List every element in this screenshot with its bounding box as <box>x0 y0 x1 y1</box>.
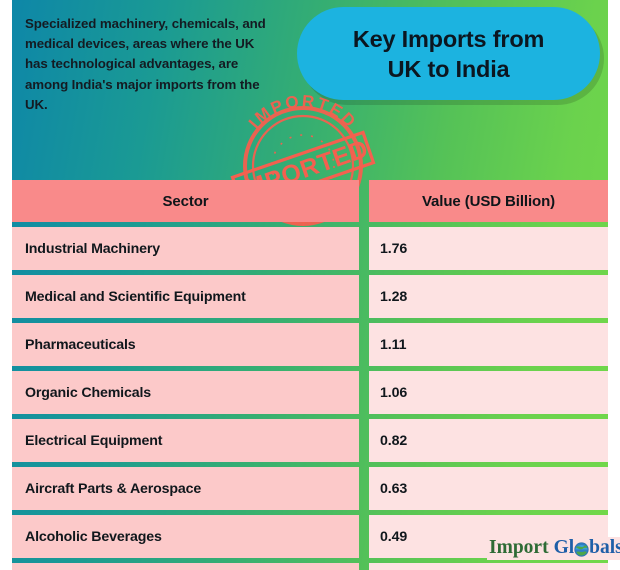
value-label: 1.28 <box>380 289 407 305</box>
cell-sector: Electrical Equipment <box>12 419 359 462</box>
header-cell-value: Value (USD Billion) <box>369 180 608 222</box>
sector-label: Electrical Equipment <box>25 433 162 449</box>
cell-value: 0.63 <box>369 467 608 510</box>
sector-label: Medical and Scientific Equipment <box>25 289 246 305</box>
brand-logo: Import Gl bals <box>487 537 620 560</box>
table-row: Organic Chemicals 1.06 <box>12 371 608 414</box>
sector-label: Organic Chemicals <box>25 385 151 401</box>
title-text-block: Key Imports from UK to India <box>353 24 544 84</box>
cell-value: 1.76 <box>369 227 608 270</box>
cell-sector: Organic Chemicals <box>12 371 359 414</box>
header-label-value: Value (USD Billion) <box>422 193 555 210</box>
title-badge: Key Imports from UK to India <box>297 7 600 100</box>
imports-table: Sector Value (USD Billion) Industrial Ma… <box>12 180 608 570</box>
table-row: Industrial Machinery 1.76 <box>12 227 608 270</box>
logo-text-bals: bals <box>589 538 620 558</box>
sector-label: Pharmaceuticals <box>25 337 136 353</box>
table-row: Electrical Equipment 0.82 <box>12 419 608 462</box>
cell-value: 0.34 <box>369 563 608 570</box>
value-label: 1.06 <box>380 385 407 401</box>
cell-sector: Medical and Scientific Equipment <box>12 275 359 318</box>
logo-text-gl: Gl <box>554 538 575 558</box>
cell-sector: Alcoholic Beverages <box>12 515 359 558</box>
infographic-page: Specialized machinery, chemicals, and me… <box>0 0 620 570</box>
cell-sector: Aircraft Parts & Aerospace <box>12 467 359 510</box>
value-label: 1.76 <box>380 241 407 257</box>
cell-sector: Pharmaceuticals <box>12 323 359 366</box>
value-label: 1.11 <box>380 337 406 353</box>
table-row: Pharmaceuticals 1.11 <box>12 323 608 366</box>
logo-text-import: Import <box>489 538 549 558</box>
sector-label: Industrial Machinery <box>25 241 160 257</box>
globe-icon <box>574 542 589 557</box>
title-line-2: UK to India <box>388 56 510 82</box>
table-row: Medical and Scientific Equipment 1.28 <box>12 275 608 318</box>
table-header-row: Sector Value (USD Billion) <box>12 180 608 222</box>
intro-paragraph: Specialized machinery, chemicals, and me… <box>25 14 270 115</box>
value-label: 0.82 <box>380 433 407 449</box>
cell-value: 0.82 <box>369 419 608 462</box>
cell-value: 1.06 <box>369 371 608 414</box>
cell-sector: Industrial Machinery <box>12 227 359 270</box>
value-label: 0.63 <box>380 481 407 497</box>
cell-value: 1.28 <box>369 275 608 318</box>
table-row: Optical Instruments 0.34 <box>12 563 608 570</box>
header-label-sector: Sector <box>162 193 208 210</box>
table-row: Aircraft Parts & Aerospace 0.63 <box>12 467 608 510</box>
value-label: 0.49 <box>380 529 407 545</box>
header-cell-sector: Sector <box>12 180 359 222</box>
sector-label: Alcoholic Beverages <box>25 529 162 545</box>
sector-label: Aircraft Parts & Aerospace <box>25 481 201 497</box>
title-line-1: Key Imports from <box>353 26 544 52</box>
cell-sector: Optical Instruments <box>12 563 359 570</box>
cell-value: 1.11 <box>369 323 608 366</box>
